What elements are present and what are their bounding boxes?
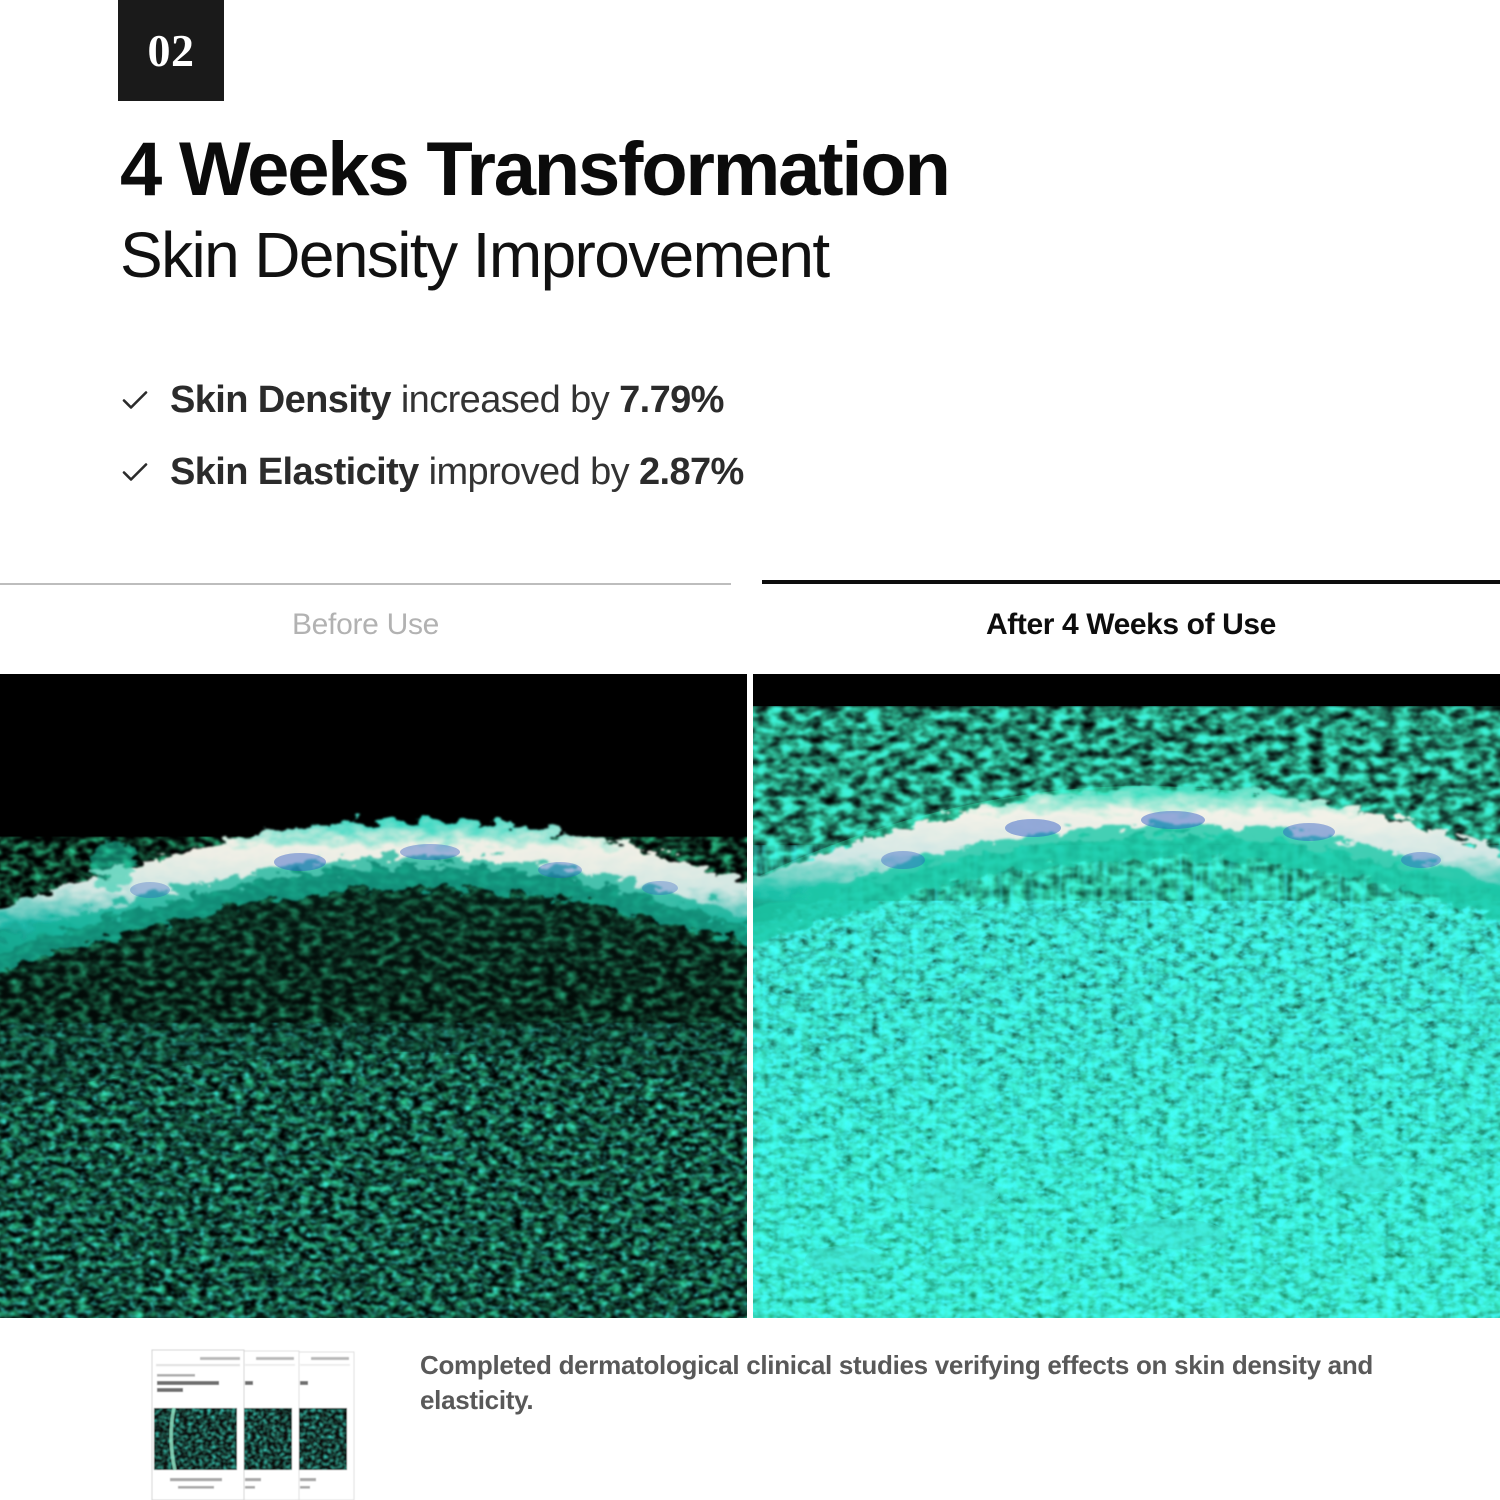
page-subtitle: Skin Density Improvement: [120, 222, 1380, 289]
check-icon: [120, 457, 150, 487]
metric-verb: improved by: [429, 451, 629, 493]
comparison-images: [0, 674, 1500, 1318]
metric-name: Skin Density: [170, 379, 391, 421]
metric-verb: increased by: [401, 379, 609, 421]
list-item-text: Skin Density increased by 7.79%: [170, 378, 724, 424]
page-title: 4 Weeks Transformation: [120, 132, 1380, 208]
list-item: Skin Elasticity improved by 2.87%: [120, 450, 1320, 496]
after-label: After 4 Weeks of Use: [762, 608, 1500, 642]
after-divider-rule: [762, 580, 1500, 584]
section-number: 02: [148, 28, 195, 74]
heading-block: 4 Weeks Transformation Skin Density Impr…: [120, 132, 1380, 289]
study-caption: Completed dermatological clinical studie…: [420, 1348, 1420, 1418]
list-item-text: Skin Elasticity improved by 2.87%: [170, 450, 744, 496]
clinical-study-pages-thumbnail[interactable]: [144, 1346, 372, 1500]
before-label: Before Use: [0, 608, 731, 642]
section-number-badge: 02: [118, 0, 224, 101]
metric-value: 7.79%: [619, 379, 724, 421]
list-item: Skin Density increased by 7.79%: [120, 378, 1320, 424]
before-divider-rule: [0, 583, 731, 585]
metric-value: 2.87%: [639, 451, 744, 493]
before-ultrasound-image: [0, 674, 747, 1318]
after-ultrasound-image: [753, 674, 1500, 1318]
benefits-list: Skin Density increased by 7.79% Skin Ela…: [120, 378, 1320, 521]
metric-name: Skin Elasticity: [170, 451, 419, 493]
check-icon: [120, 385, 150, 415]
